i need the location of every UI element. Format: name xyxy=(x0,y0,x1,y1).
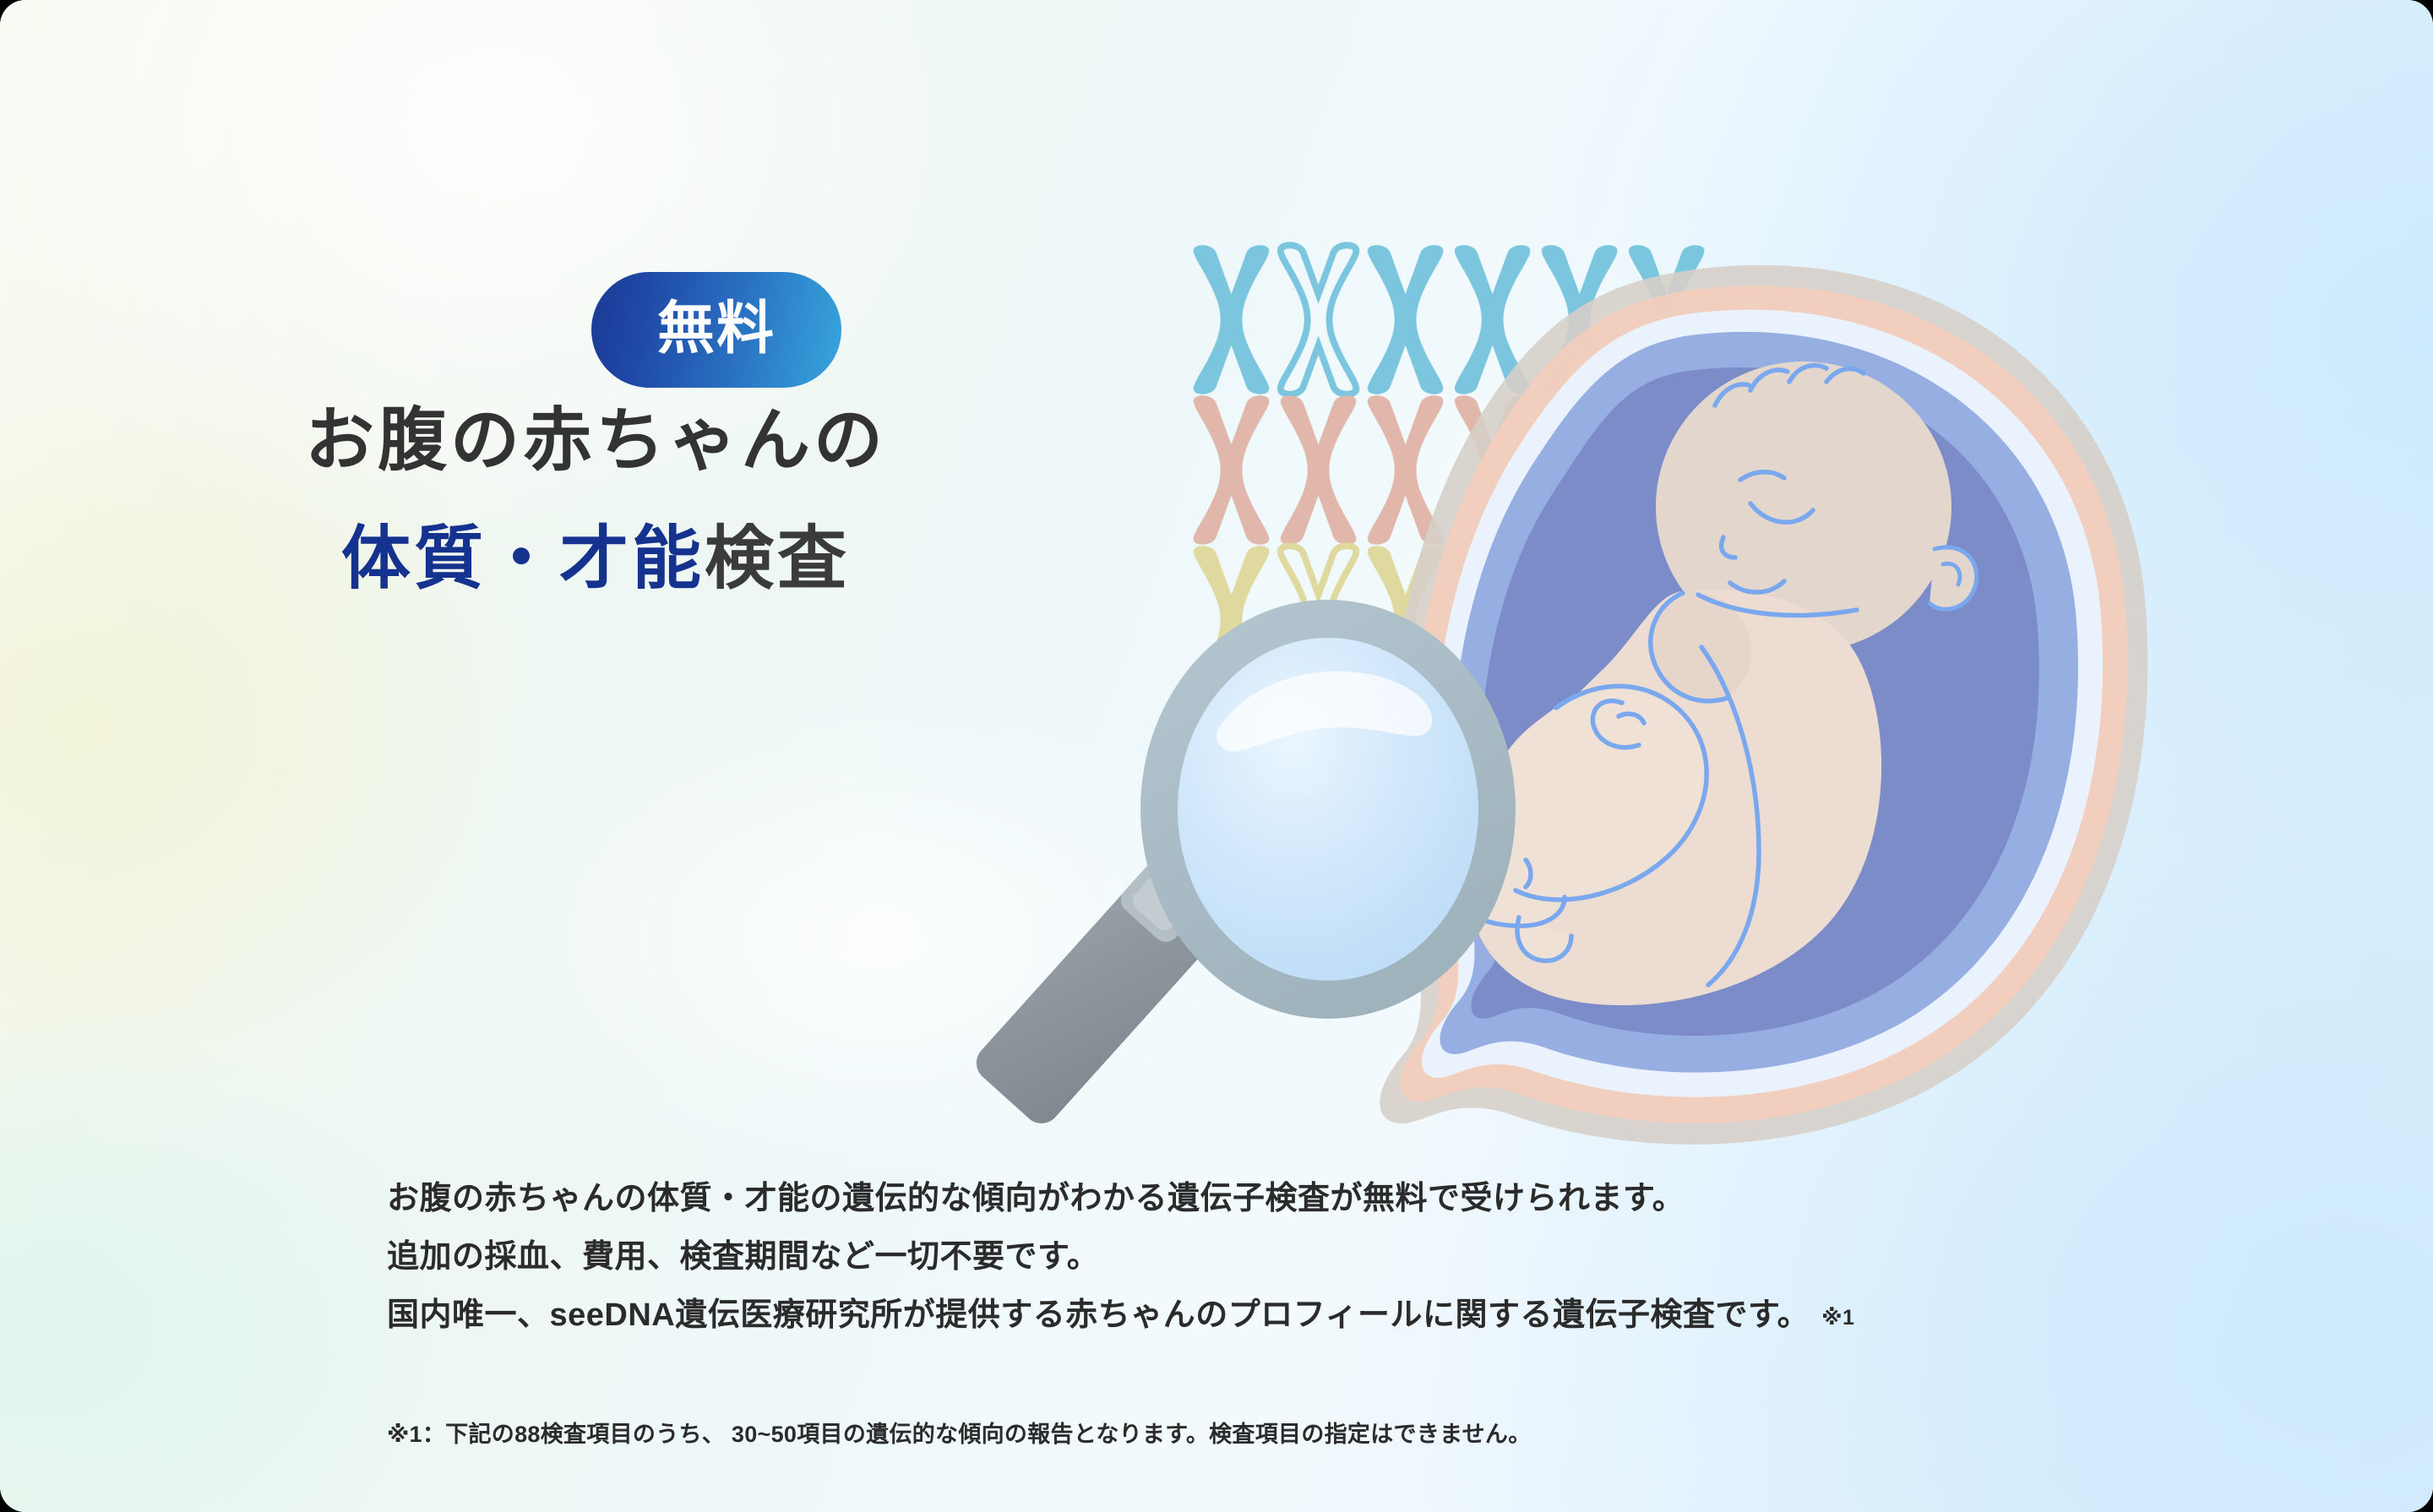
footnote-marker: ※1 xyxy=(1821,1306,1854,1330)
description-line-3-text: 国内唯一、seeDNA遺伝医療研究所が提供する赤ちゃんのプロフィールに関する遺伝… xyxy=(387,1297,1810,1333)
description-line-3: 国内唯一、seeDNA遺伝医療研究所が提供する赤ちゃんのプロフィールに関する遺伝… xyxy=(387,1299,2161,1331)
description-line-2: 追加の採血、費用、検査期間など一切不要です。 xyxy=(387,1241,2161,1273)
description-line-1: お腹の赤ちゃんの体質・才能の遺伝的な傾向がわかる遺伝子検査が無料で受けられます。 xyxy=(387,1183,2161,1215)
description-block: お腹の赤ちゃんの体質・才能の遺伝的な傾向がわかる遺伝子検査が無料で受けられます。… xyxy=(387,1183,2161,1331)
headline-line-2: 体質・才能検査 xyxy=(0,522,1191,597)
free-badge: 無料 xyxy=(591,272,841,388)
footnote-text: ※1：下記の88検査項目のうち、 30~50項目の遺伝的な傾向の報告となります。… xyxy=(387,1416,1532,1449)
free-badge-label: 無料 xyxy=(657,300,776,357)
promo-banner: 無料 お腹の赤ちゃんの 体質・才能検査 お腹の赤ちゃんの体質・才能の遺伝的な傾向… xyxy=(0,0,2433,1512)
headline-suffix: 検査 xyxy=(705,520,850,597)
headline-line-1: お腹の赤ちゃんの xyxy=(0,404,1191,479)
headline-highlight: 体質・才能 xyxy=(341,520,705,597)
